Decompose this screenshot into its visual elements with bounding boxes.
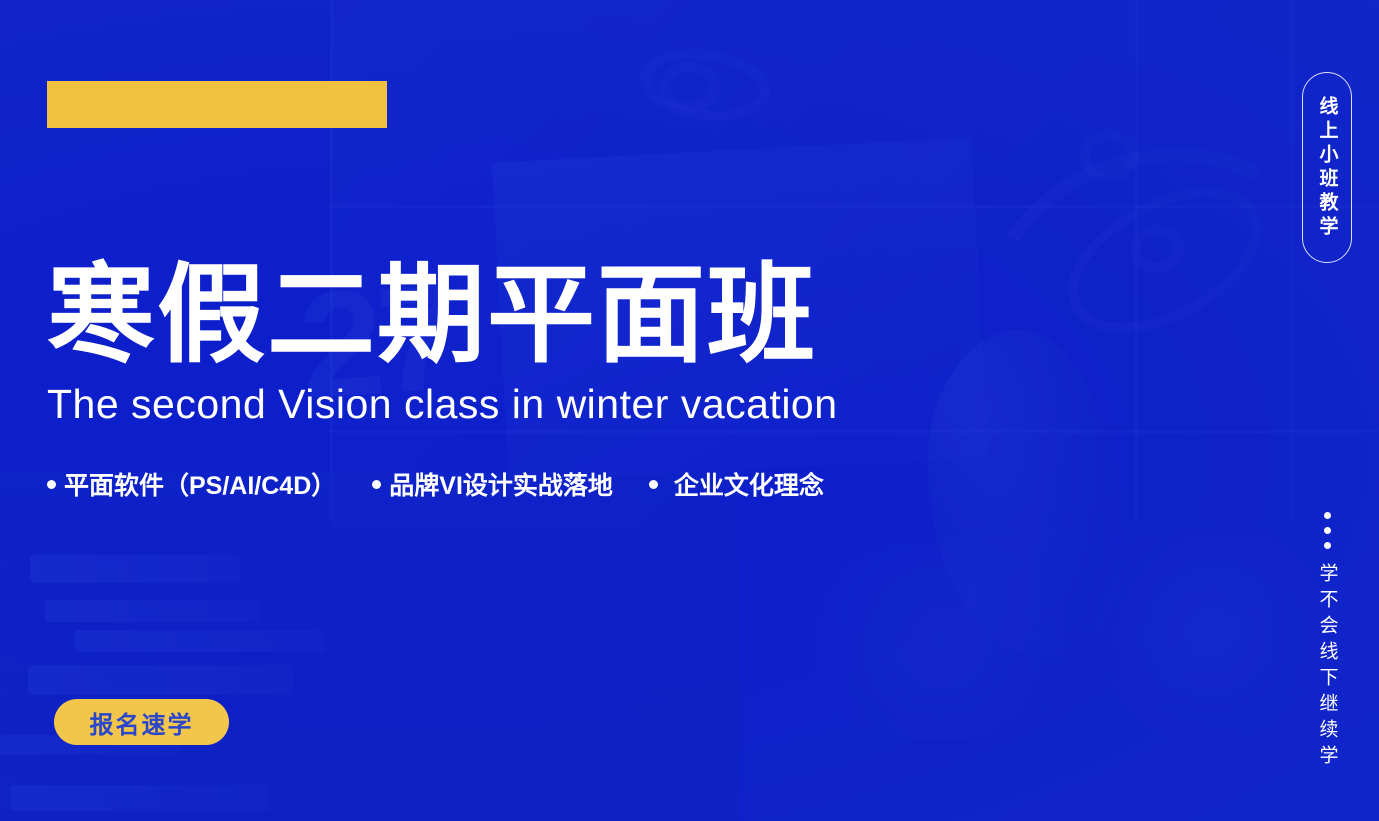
bullet-dot-icon	[372, 480, 381, 489]
three-dots-icon	[1324, 512, 1331, 549]
feature-item: 平面软件（PS/AI/C4D）	[47, 466, 336, 502]
online-class-badge: 线上小班教学	[1302, 72, 1352, 263]
promo-poster: 27 寒假二期平面班 The second Vision class in wi…	[0, 0, 1379, 821]
enroll-button[interactable]: 报名速学	[54, 699, 229, 745]
accent-bar	[47, 81, 387, 128]
guarantee-slogan-label: 学不会线下继续学	[1318, 563, 1337, 771]
feature-item: 品牌VI设计实战落地	[372, 466, 613, 502]
feature-label: 企业文化理念	[674, 466, 824, 502]
bullet-dot-icon	[47, 480, 56, 489]
feature-list: 平面软件（PS/AI/C4D） 品牌VI设计实战落地 企业文化理念	[47, 466, 824, 502]
bullet-dot-icon	[649, 480, 658, 489]
page-title: 寒假二期平面班	[47, 258, 838, 375]
guarantee-slogan: 学不会线下继续学	[1302, 512, 1352, 771]
feature-label: 平面软件（PS/AI/C4D）	[64, 466, 336, 502]
headline-block: 寒假二期平面班 The second Vision class in winte…	[47, 258, 838, 428]
feature-label: 品牌VI设计实战落地	[389, 466, 613, 502]
online-class-badge-label: 线上小班教学	[1318, 96, 1337, 240]
page-subtitle: The second Vision class in winter vacati…	[47, 381, 838, 428]
feature-item: 企业文化理念	[649, 466, 824, 502]
